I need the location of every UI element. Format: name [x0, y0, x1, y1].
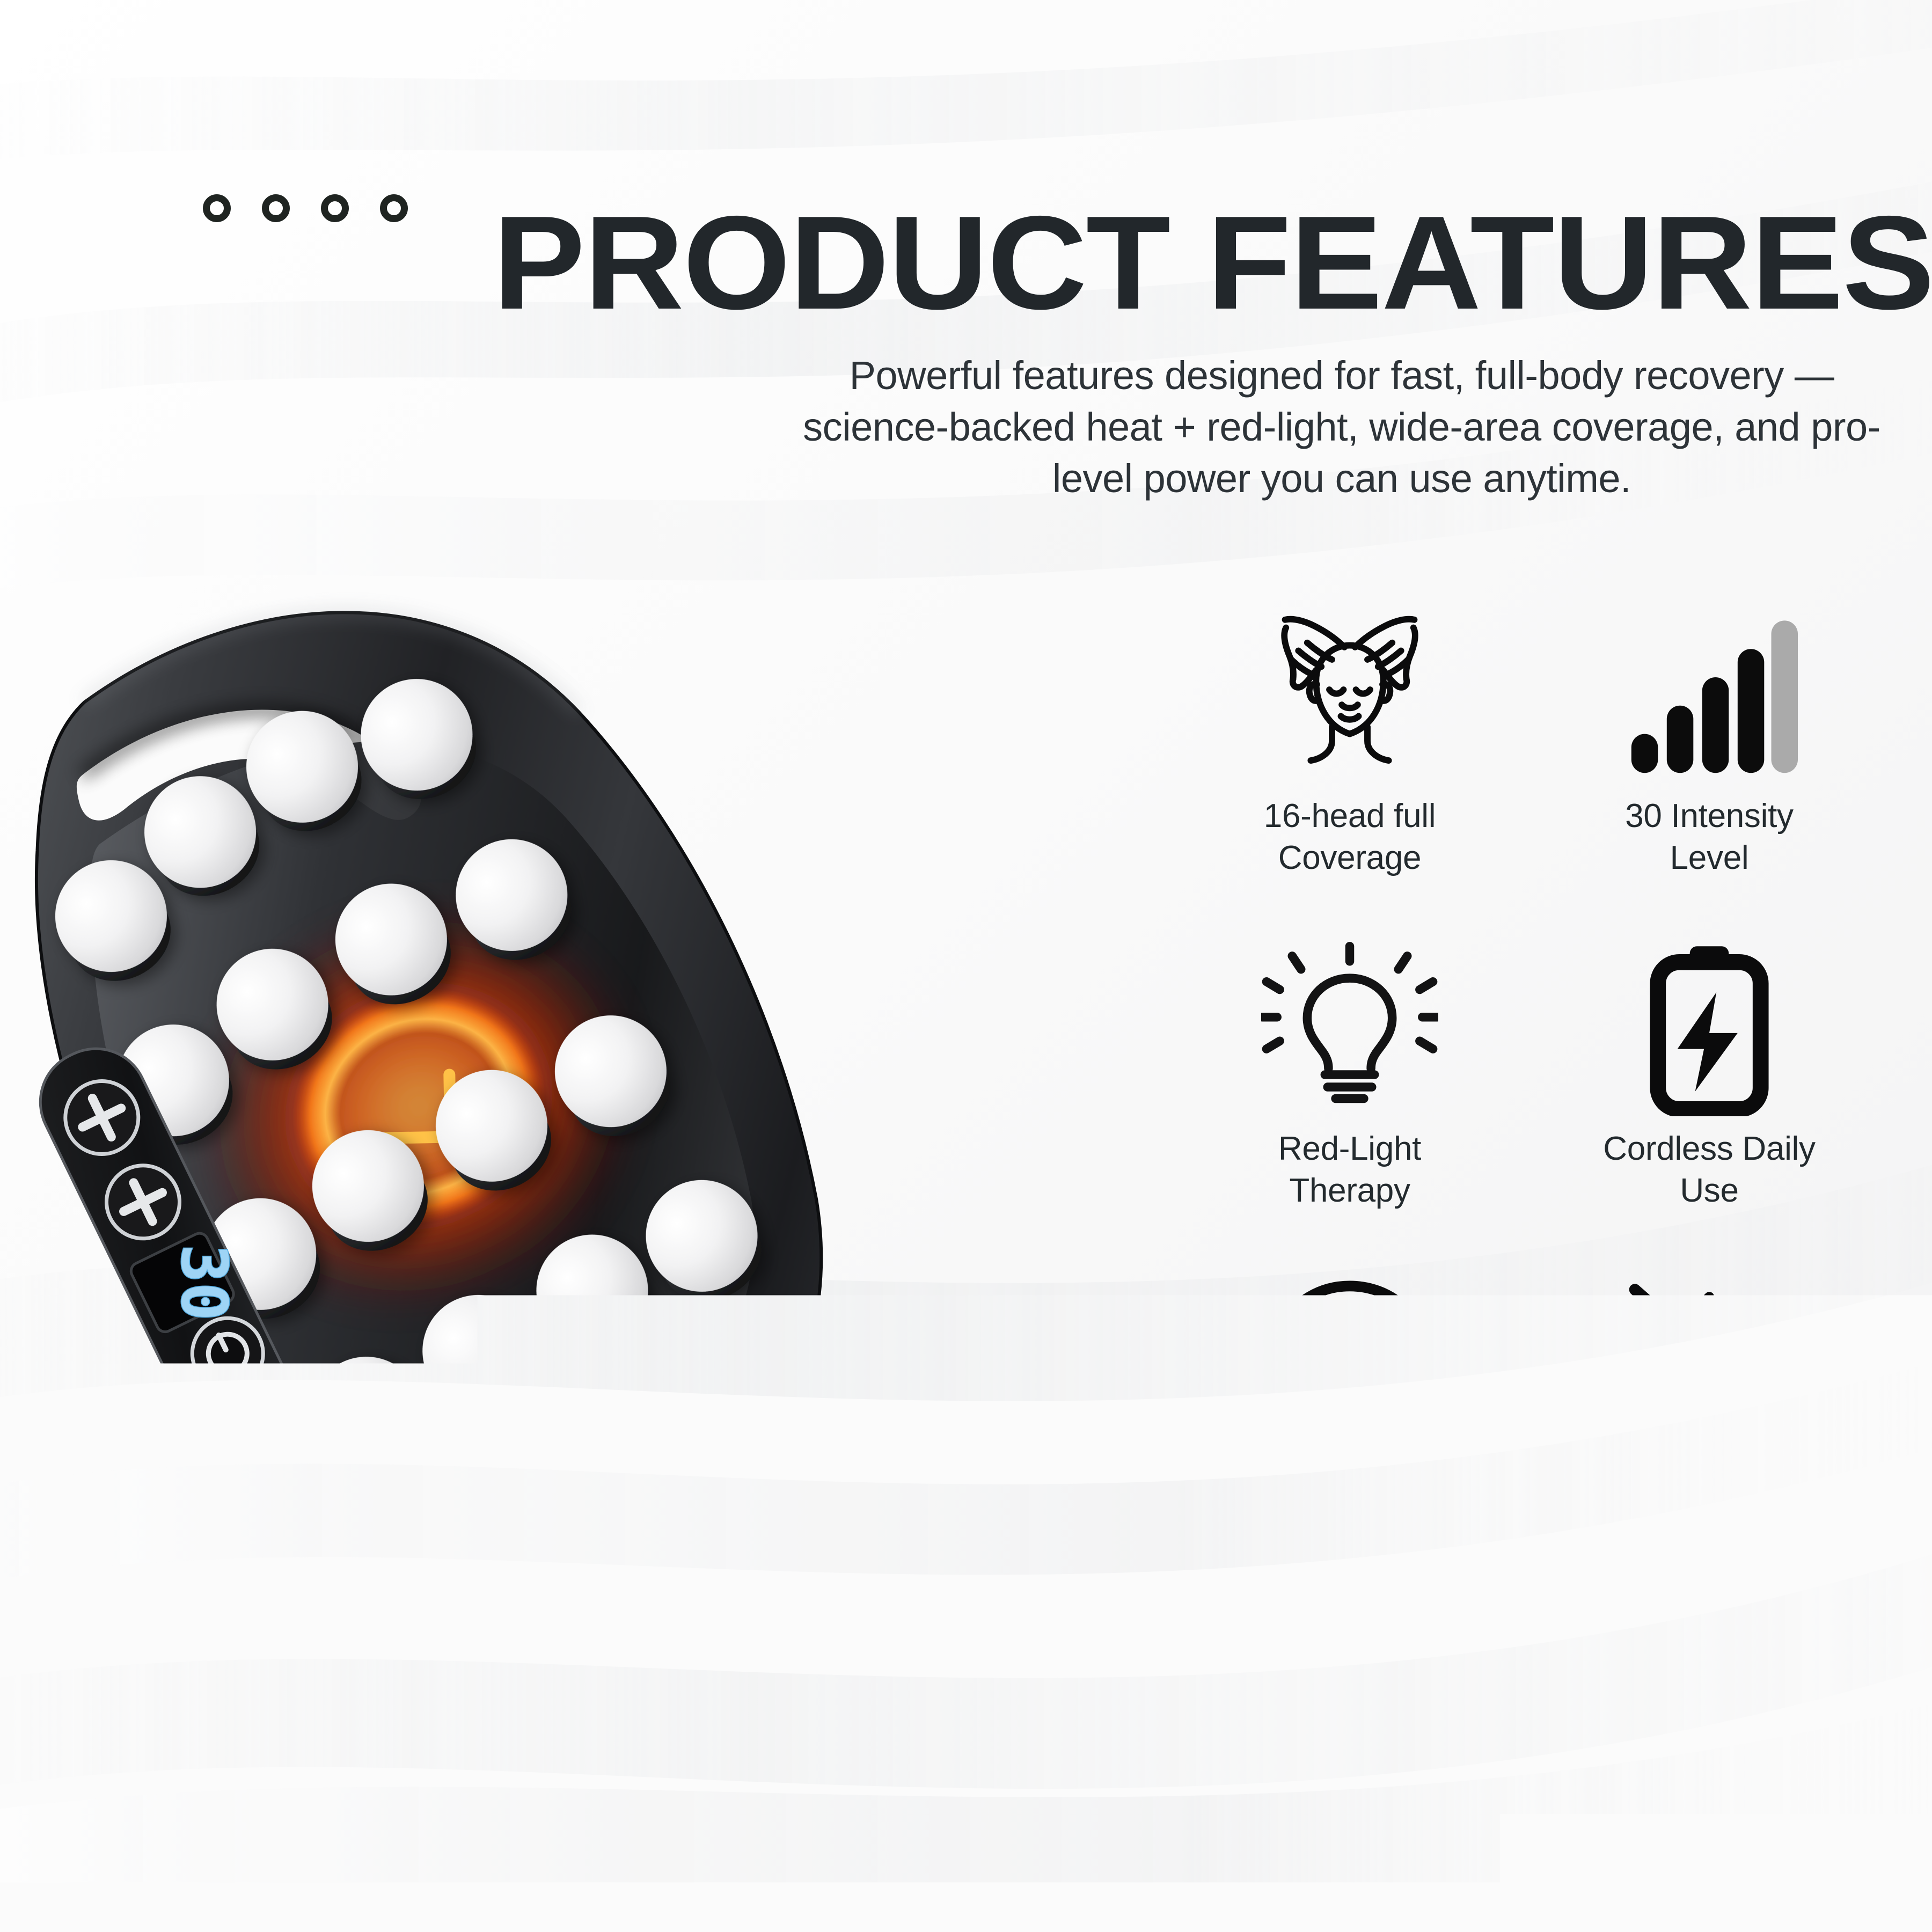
decor-dots-bottom: [1520, 1706, 1721, 1732]
product-image-handheld-massager: 30: [0, 462, 1009, 1642]
head-massage-icon: [1261, 606, 1438, 784]
feature-label: 16-head full Coverage: [1237, 795, 1462, 879]
feature-label: 30 Intensity Level: [1597, 795, 1822, 879]
feature-label: Quiet but Powerful: [1597, 1461, 1822, 1545]
battery-charge-icon: [1621, 939, 1798, 1116]
intensity-display-value: 30: [167, 1245, 241, 1321]
feature-item-ergonomic-dual-handles: Ergonomic Dual Handles: [1170, 1272, 1529, 1605]
decor-dot: [1578, 1706, 1605, 1732]
feature-label: Red-Light Therapy: [1237, 1128, 1462, 1212]
lightbulb-icon: [1261, 939, 1438, 1116]
feature-item-cordless-daily-use: Cordless Daily Use: [1529, 939, 1889, 1272]
feature-item-red-light-therapy: Red-Light Therapy: [1170, 939, 1529, 1272]
feature-grid: 16-head full Coverage 30 Intensity Level: [1170, 606, 1889, 1605]
decor-dot: [321, 194, 349, 222]
decor-dot: [1520, 1706, 1547, 1732]
decor-dots-top: [203, 194, 408, 222]
header: PRODUCT FEATURES Powerful features desig…: [547, 199, 1911, 505]
decor-dot: [203, 194, 231, 222]
feature-item-quiet-but-powerful: Quiet but Powerful: [1529, 1272, 1889, 1605]
feature-label: Ergonomic Dual Handles: [1237, 1461, 1462, 1545]
decor-dot: [1636, 1706, 1663, 1732]
speaker-mute-icon: [1621, 1272, 1798, 1449]
feature-label: Cordless Daily Use: [1597, 1128, 1822, 1212]
decor-dot: [1694, 1706, 1721, 1732]
decor-dot: [262, 194, 290, 222]
feature-item-30-intensity-level: 30 Intensity Level: [1529, 606, 1889, 939]
page-title: PRODUCT FEATURES: [493, 199, 1911, 326]
feature-item-16-head-full-coverage: 16-head full Coverage: [1170, 606, 1529, 939]
refresh-cycle-icon: [1261, 1272, 1438, 1449]
decor-dot: [380, 194, 408, 222]
signal-bars-icon: [1621, 606, 1798, 784]
